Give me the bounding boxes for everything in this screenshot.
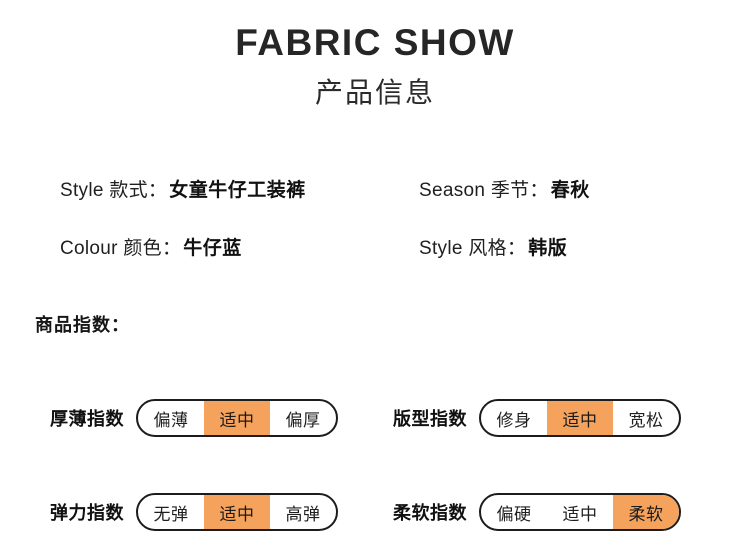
- pill-option[interactable]: 宽松: [613, 401, 679, 435]
- index-label: 版型指数: [393, 405, 467, 431]
- info-label: Colour 颜色：: [60, 233, 181, 260]
- indices-row: 弹力指数 无弹 适中 高弹 柔软指数 偏硬 适中 柔软: [0, 465, 750, 559]
- index-label: 厚薄指数: [50, 405, 124, 431]
- pill-option[interactable]: 修身: [481, 401, 547, 435]
- info-row: Colour 颜色： 牛仔蓝 Style 风格： 韩版: [0, 233, 750, 291]
- page-title-cn: 产品信息: [0, 76, 750, 110]
- info-field-style-genre: Style 风格： 韩版: [410, 233, 750, 260]
- pill-option-selected[interactable]: 适中: [204, 401, 270, 435]
- pill-option-selected[interactable]: 适中: [204, 495, 270, 529]
- index-pill-fit: 修身 适中 宽松: [479, 399, 681, 437]
- page-header: FABRIC SHOW 产品信息: [0, 0, 750, 109]
- index-pill-thickness: 偏薄 适中 偏厚: [136, 399, 338, 437]
- info-value: 牛仔蓝: [183, 233, 242, 260]
- pill-option-selected[interactable]: 柔软: [613, 495, 679, 529]
- page-title-en: FABRIC SHOW: [0, 22, 750, 65]
- info-label: Season 季节：: [419, 175, 549, 202]
- info-field-colour: Colour 颜色： 牛仔蓝: [0, 233, 410, 260]
- info-label: Style 款式：: [60, 175, 167, 202]
- pill-option-selected[interactable]: 适中: [547, 401, 613, 435]
- index-softness: 柔软指数 偏硬 适中 柔软: [375, 465, 750, 559]
- index-pill-softness: 偏硬 适中 柔软: [479, 493, 681, 531]
- info-value: 韩版: [528, 233, 567, 260]
- pill-option[interactable]: 无弹: [138, 495, 204, 529]
- indices-row: 厚薄指数 偏薄 适中 偏厚 版型指数 修身 适中 宽松: [0, 371, 750, 465]
- index-label: 柔软指数: [393, 499, 467, 525]
- info-field-style-name: Style 款式： 女童牛仔工装裤: [0, 175, 410, 202]
- indices-grid: 厚薄指数 偏薄 适中 偏厚 版型指数 修身 适中 宽松 弹力指数 无弹 适中 高…: [0, 371, 750, 559]
- index-label: 弹力指数: [50, 499, 124, 525]
- index-elasticity: 弹力指数 无弹 适中 高弹: [0, 465, 375, 559]
- indices-section-title: 商品指数：: [35, 311, 130, 337]
- product-info-grid: Style 款式： 女童牛仔工装裤 Season 季节： 春秋 Colour 颜…: [0, 175, 750, 291]
- index-fit: 版型指数 修身 适中 宽松: [375, 371, 750, 465]
- pill-option[interactable]: 高弹: [270, 495, 336, 529]
- info-label: Style 风格：: [419, 233, 526, 260]
- info-value: 女童牛仔工装裤: [169, 175, 306, 202]
- index-thickness: 厚薄指数 偏薄 适中 偏厚: [0, 371, 375, 465]
- info-field-season: Season 季节： 春秋: [410, 175, 750, 202]
- pill-option[interactable]: 适中: [547, 495, 613, 529]
- pill-option[interactable]: 偏厚: [270, 401, 336, 435]
- info-row: Style 款式： 女童牛仔工装裤 Season 季节： 春秋: [0, 175, 750, 233]
- index-pill-elasticity: 无弹 适中 高弹: [136, 493, 338, 531]
- pill-option[interactable]: 偏硬: [481, 495, 547, 529]
- pill-option[interactable]: 偏薄: [138, 401, 204, 435]
- info-value: 春秋: [551, 175, 590, 202]
